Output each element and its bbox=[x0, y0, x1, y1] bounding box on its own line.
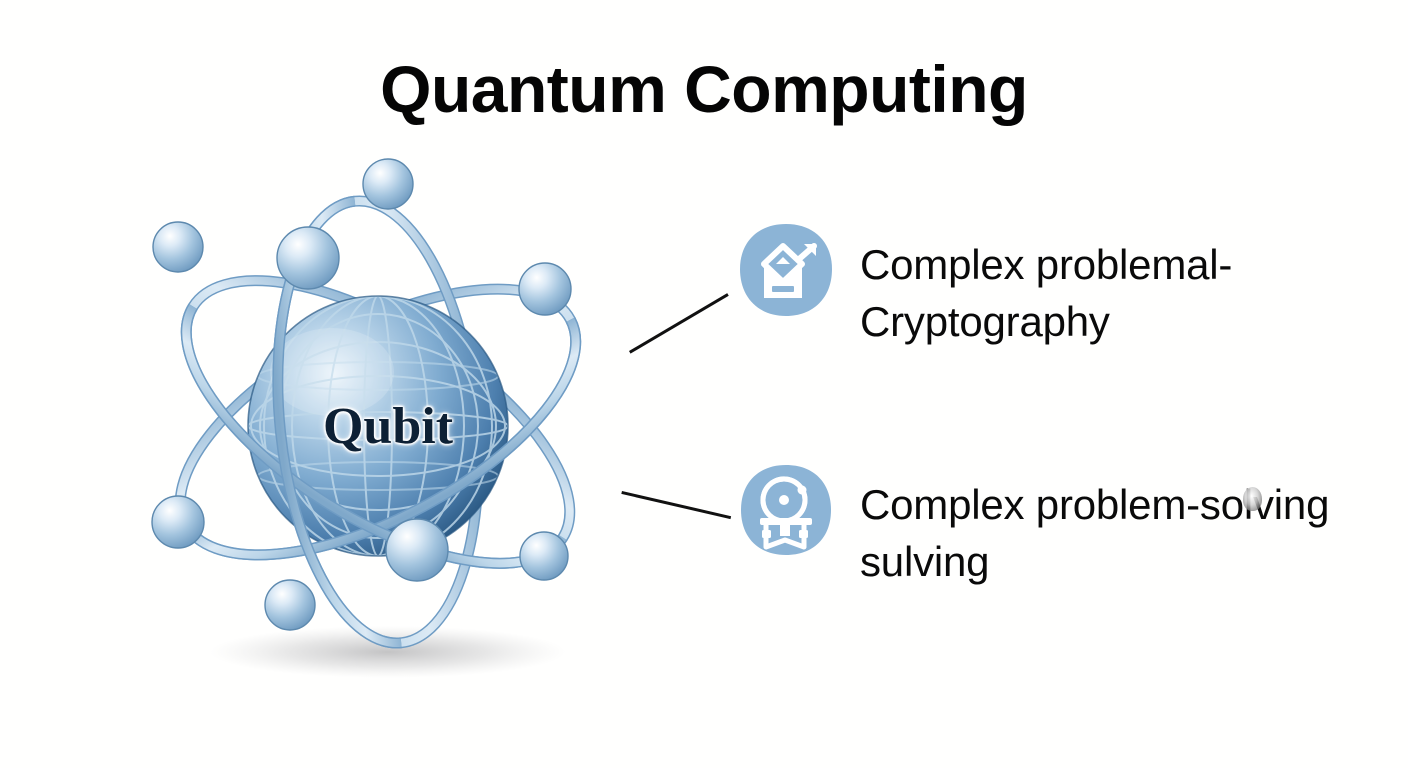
atom-illustration bbox=[120, 150, 640, 670]
electron-node bbox=[277, 227, 339, 289]
slide-canvas: Quantum Computing bbox=[0, 0, 1408, 768]
feature-1-line-2: Cryptography bbox=[860, 293, 1232, 350]
electron-node bbox=[519, 263, 571, 315]
feature-1-line-1: Complex problemal- bbox=[860, 236, 1232, 293]
electron-node bbox=[363, 159, 413, 209]
feature-2-line-1: Complex problem-solving bbox=[860, 476, 1329, 533]
qubit-sphere bbox=[248, 296, 508, 556]
feature-item-cryptography[interactable]: Complex problemal- Cryptography bbox=[738, 222, 1232, 350]
feature-2-text: Complex problem-solving sulving bbox=[860, 462, 1329, 590]
atom-drop-shadow bbox=[210, 626, 566, 678]
electron-node bbox=[520, 532, 568, 580]
electron-node bbox=[153, 222, 203, 272]
electron-node bbox=[152, 496, 204, 548]
electron-node bbox=[386, 519, 448, 581]
feature-1-text: Complex problemal- Cryptography bbox=[860, 222, 1232, 350]
document-arrow-icon bbox=[738, 222, 834, 318]
connector-to-feature-1 bbox=[629, 293, 729, 353]
quantum-machine-icon bbox=[738, 462, 834, 558]
feature-2-line-2: sulving bbox=[860, 533, 1329, 590]
electron-node bbox=[265, 580, 315, 630]
feature-item-problem-solving[interactable]: Complex problem-solving sulving bbox=[738, 462, 1329, 590]
page-title: Quantum Computing bbox=[0, 56, 1408, 122]
